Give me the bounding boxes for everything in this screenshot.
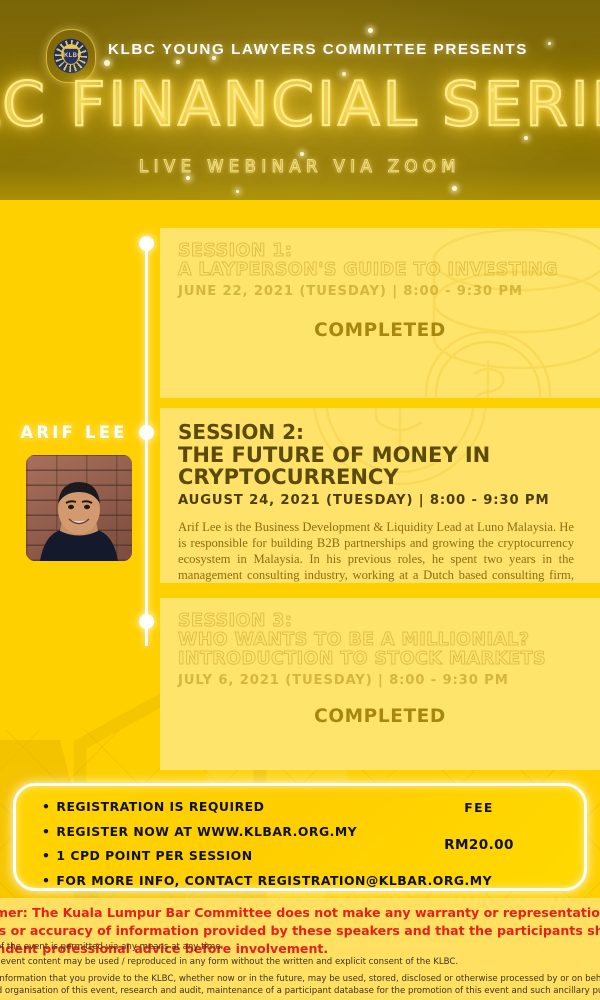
bullet-icon: • [42,824,50,839]
disclaimer-section: Disclaimer: The Kuala Lumpur Bar Committ… [0,898,600,1000]
header-banner: KLBC KLBC YOUNG LAWYERS COMMITTEE PRESEN… [0,0,600,200]
bullet-icon: • [42,873,50,888]
session-card-3[interactable]: SESSION 3: WHO WANTS TO BE A MILLIONIAL?… [160,598,600,770]
session-3-date: JULY 6, 2021 (TUESDAY) | 8:00 - 9:30 PM [178,673,582,688]
session-2-title: THE FUTURE OF MONEY IN CRYPTOCURRENCY [178,444,582,489]
session-3-label: SESSION 3: [178,612,582,631]
disclaimer-note-3: Any personal information that you provid… [0,974,600,997]
disclaimer-note-2: No part of the event content may be used… [0,957,600,969]
bullet-icon: • [42,848,50,863]
speaker-portrait [26,477,132,561]
fee-label: FEE [432,800,526,815]
disclaimer-note-1: No recording of the event is permitted v… [0,942,600,954]
speaker-avatar [26,455,132,561]
registration-item-2[interactable]: REGISTER NOW AT WWW.KLBAR.ORG.MY [56,824,357,839]
bullet-icon: • [42,799,50,814]
sparkle-icon [186,176,190,180]
session-3-title-line-1: WHO WANTS TO BE A MILLIONIAL? [178,631,582,650]
session-1-label: SESSION 1: [178,242,582,261]
list-item: •FOR MORE INFO, CONTACT REGISTRATION@KLB… [42,873,492,888]
session-2-date: AUGUST 24, 2021 (TUESDAY) | 8:00 - 9:30 … [178,493,582,508]
list-item: •REGISTRATION IS REQUIRED [42,799,492,814]
timeline-dot-session-2 [139,425,154,440]
registration-item-1: REGISTRATION IS REQUIRED [56,799,264,814]
event-subtitle: LIVE WEBINAR VIA ZOOM [139,157,461,176]
timeline-track [145,238,148,646]
registration-panel: •REGISTRATION IS REQUIRED •REGISTER NOW … [13,783,587,891]
timeline-dot-session-3 [139,614,154,629]
sparkle-icon [368,28,373,33]
sparkle-icon [300,152,304,156]
sparkle-icon [104,60,110,66]
list-item: •1 CPD POINT PER SESSION [42,848,492,863]
session-2-label: SESSION 2: [178,422,582,444]
registration-list: •REGISTRATION IS REQUIRED •REGISTER NOW … [42,799,492,897]
session-1-status-badge: COMPLETED [160,320,600,341]
presents-heading: KLBC YOUNG LAWYERS COMMITTEE PRESENTS [108,41,568,58]
registration-item-4[interactable]: FOR MORE INFO, CONTACT REGISTRATION@KLBA… [56,873,492,888]
session-card-1[interactable]: SESSION 1: A LAYPERSON'S GUIDE TO INVEST… [160,228,600,398]
fee-block: FEE RM20.00 [432,800,526,853]
speaker-name-label: ARIF LEE [14,423,134,442]
session-1-title: A LAYPERSON'S GUIDE TO INVESTING [178,261,582,280]
event-title: YLC FINANCIAL SERIES [0,74,600,135]
sparkle-icon [452,186,457,191]
list-item: •REGISTER NOW AT WWW.KLBAR.ORG.MY [42,824,492,839]
session-3-status-badge: COMPLETED [160,706,600,727]
timeline-dot-session-1 [139,236,154,251]
session-3-title-line-2: INTRODUCTION TO STOCK MARKETS [178,650,582,669]
session-1-date: JUNE 22, 2021 (TUESDAY) | 8:00 - 9:30 PM [178,284,582,299]
logo-shield-label: KLBC [63,48,79,65]
session-2-speaker-bio: Arif Lee is the Business Development & L… [178,519,582,583]
sparkle-icon [176,60,180,64]
registration-item-3: 1 CPD POINT PER SESSION [56,848,252,863]
session-card-2[interactable]: SESSION 2: THE FUTURE OF MONEY IN CRYPTO… [160,408,600,583]
fee-amount: RM20.00 [432,837,526,853]
sparkle-icon [236,190,239,193]
